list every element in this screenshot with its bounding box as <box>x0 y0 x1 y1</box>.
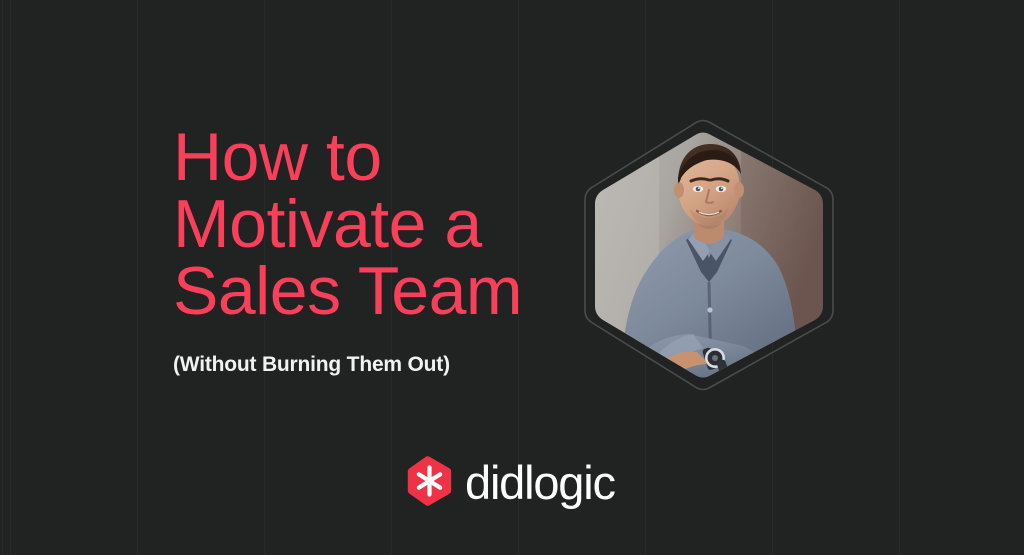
portrait-hexagon-frame <box>580 118 838 392</box>
headline-line-3: Sales Team <box>173 258 593 325</box>
didlogic-hexagon-asterisk-logo-icon <box>407 456 452 506</box>
headline-line-1: How to <box>173 124 593 191</box>
brand-logo-lockup[interactable]: didlogic <box>407 452 615 510</box>
headline-block: How to Motivate a Sales Team <box>173 124 593 325</box>
brand-wordmark: didlogic <box>465 459 615 506</box>
social-card-canvas: How to Motivate a Sales Team (Without Bu… <box>0 0 1024 555</box>
headline-line-2: Motivate a <box>173 191 593 258</box>
headline-subtitle: (Without Burning Them Out) <box>173 352 450 378</box>
portrait-photo <box>593 132 825 378</box>
